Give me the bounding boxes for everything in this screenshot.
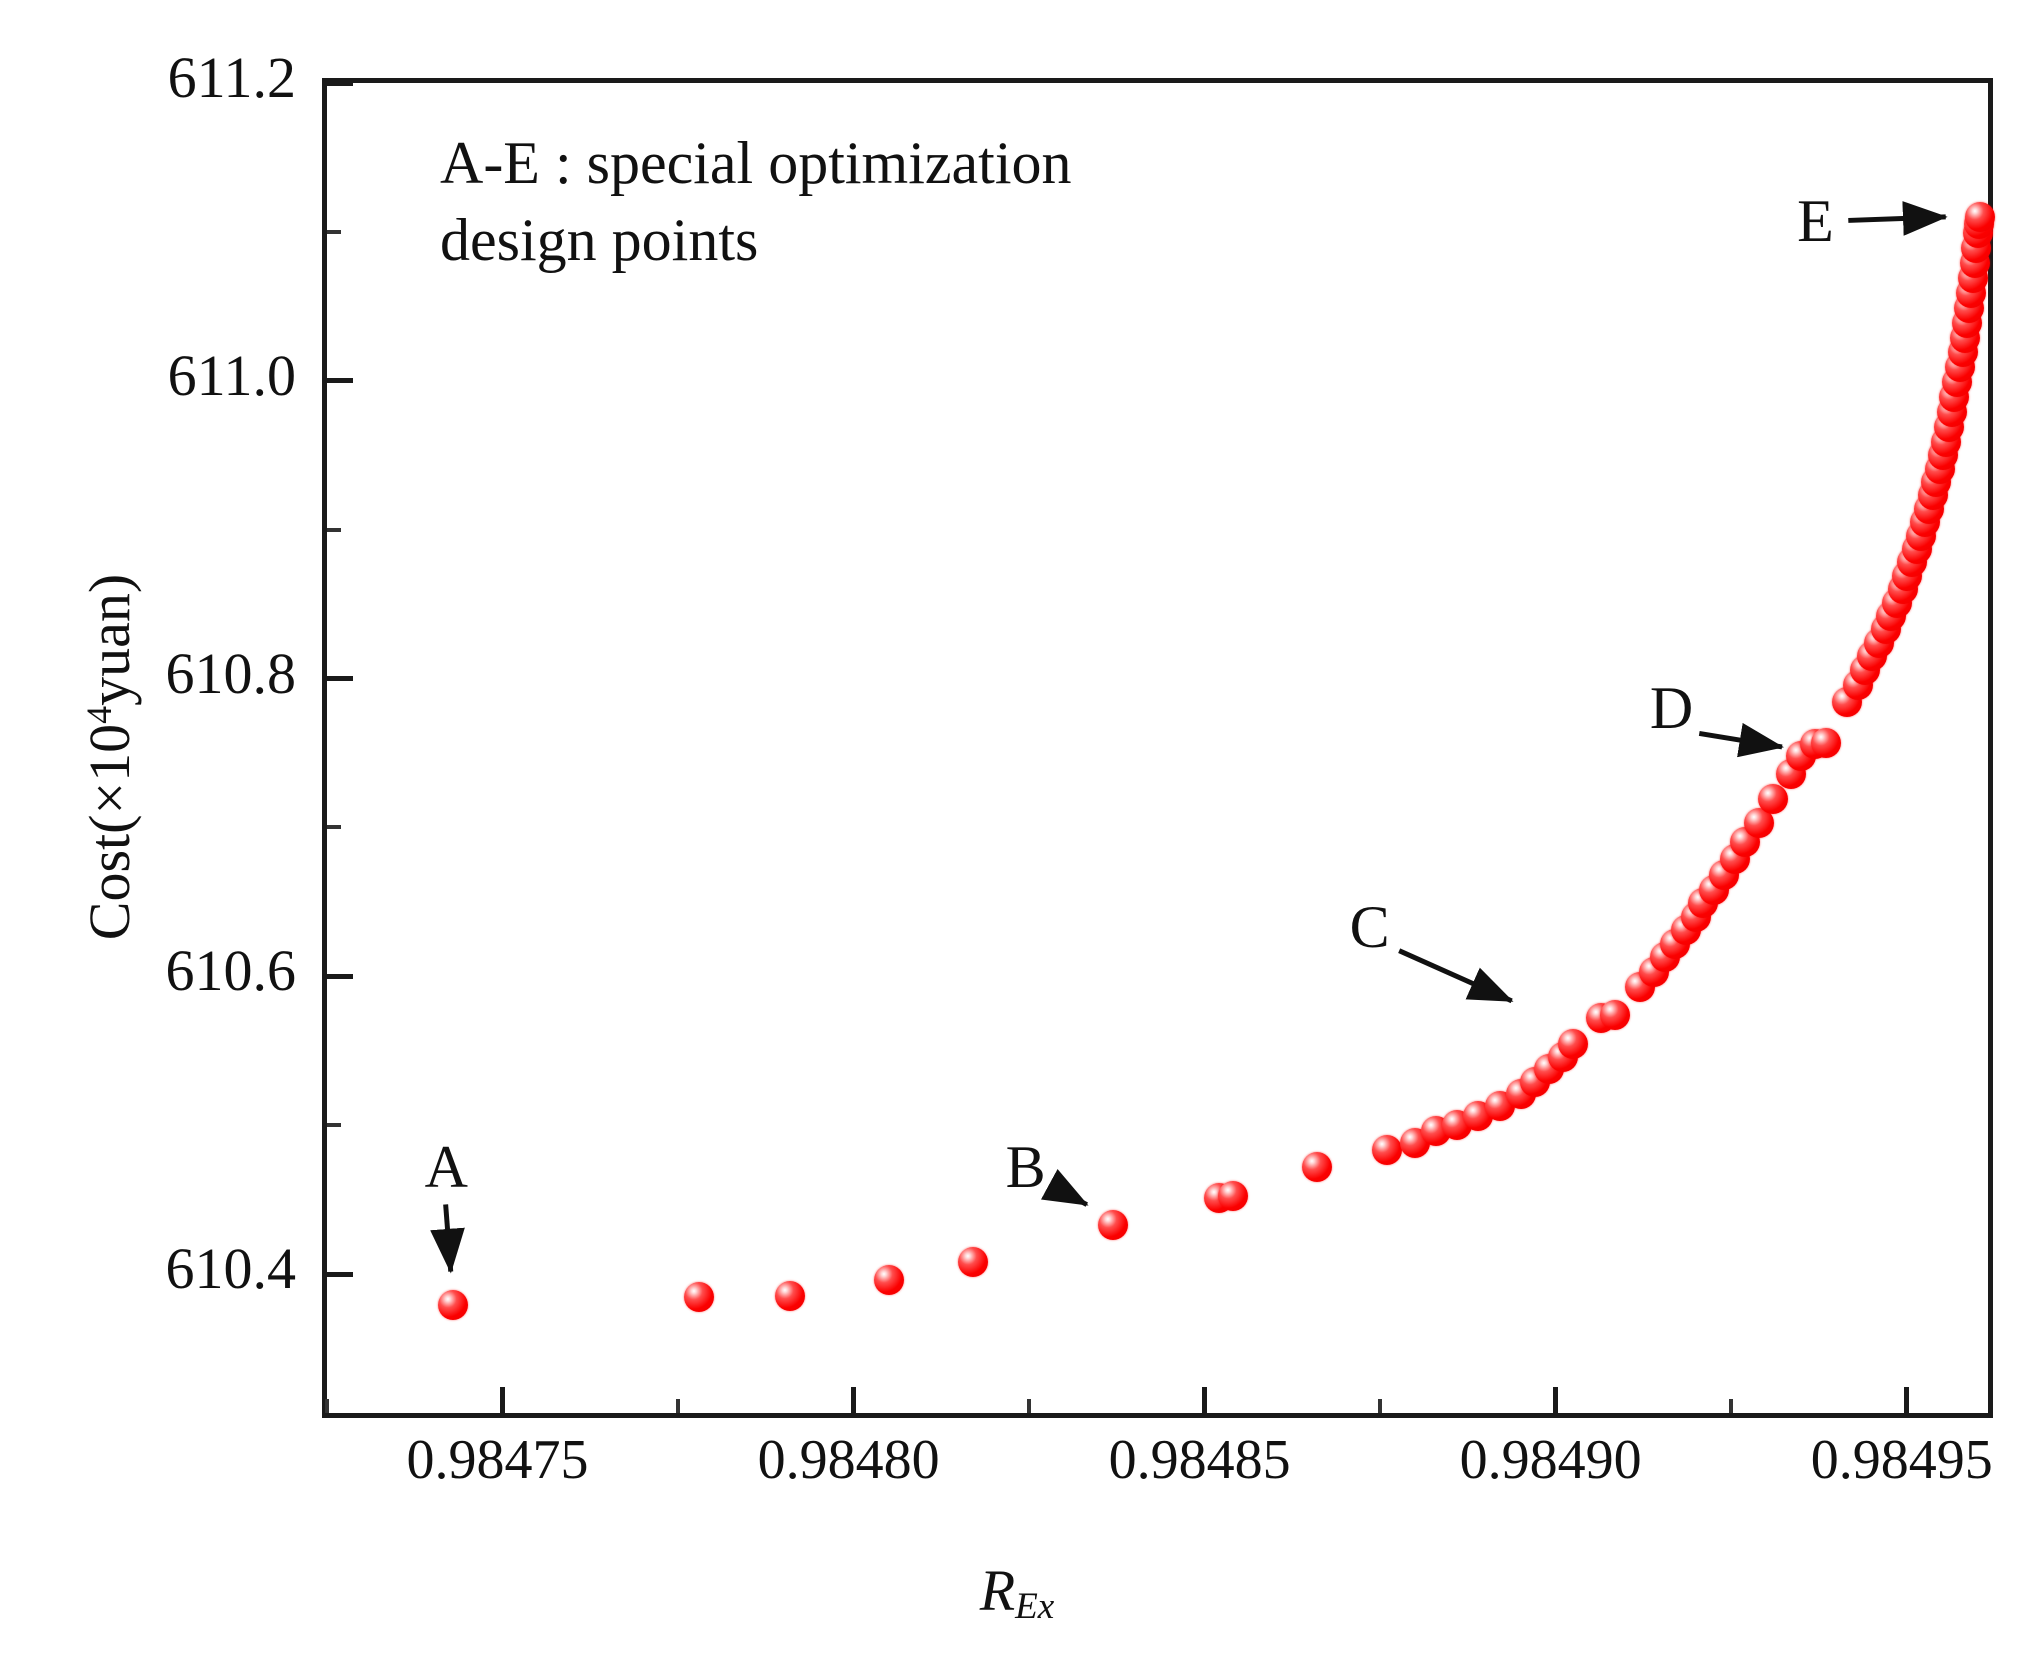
x-axis-tick-labels: 0.984750.984800.984850.984900.98495 — [322, 1432, 1993, 1512]
data-point — [438, 1290, 468, 1320]
data-point — [775, 1281, 805, 1311]
data-point — [1758, 784, 1788, 814]
data-point — [958, 1247, 988, 1277]
x-tick-label: 0.98495 — [1811, 1432, 1993, 1488]
y-tick-label: 610.4 — [166, 1240, 297, 1298]
x-tick-label: 0.98475 — [407, 1432, 589, 1488]
x-tick-label: 0.98485 — [1109, 1432, 1291, 1488]
x-tick-label: 0.98490 — [1460, 1432, 1642, 1488]
data-point — [1811, 728, 1841, 758]
data-point — [1600, 1000, 1630, 1030]
y-tick-label: 610.6 — [166, 942, 297, 1000]
y-tick-label: 610.8 — [166, 645, 297, 703]
data-point — [1302, 1152, 1332, 1182]
data-point — [1558, 1029, 1588, 1059]
plot-area: A-E : special optimization design points… — [327, 83, 1988, 1413]
y-axis-tick-labels: 610.4610.6610.8611.0611.2 — [0, 78, 296, 1418]
data-point — [684, 1282, 714, 1312]
x-tick-label: 0.98480 — [758, 1432, 940, 1488]
y-axis-title: Cost(×104yuan) — [81, 87, 139, 1427]
data-point — [874, 1265, 904, 1295]
data-point — [1372, 1135, 1402, 1165]
y-tick-label: 611.0 — [168, 347, 296, 405]
data-series-pareto-front — [327, 83, 1988, 1413]
chart-figure: 610.4610.6610.8611.0611.2 Cost(×104yuan)… — [0, 0, 2034, 1667]
data-point — [1218, 1181, 1248, 1211]
data-point — [1098, 1210, 1128, 1240]
plot-frame: A-E : special optimization design points… — [322, 78, 1993, 1418]
y-tick-label: 611.2 — [168, 49, 296, 107]
x-axis-title: REx — [0, 1562, 2034, 1625]
